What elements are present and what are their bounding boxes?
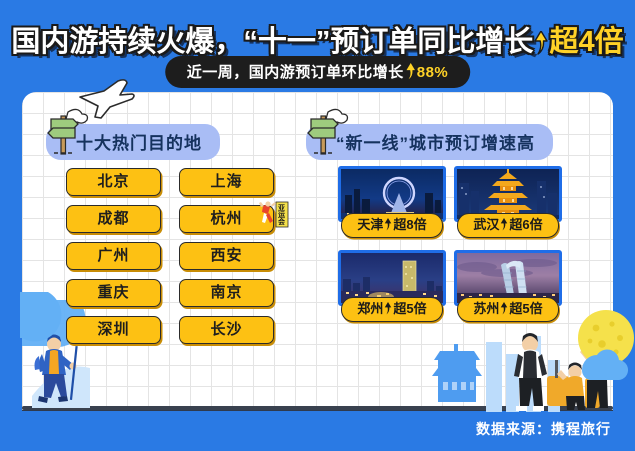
city-button[interactable]: 成都: [66, 205, 161, 233]
subtitle-text: 近一周，国内游预订单环比增长: [187, 64, 404, 81]
city-card-label: 苏州超5倍: [457, 297, 559, 322]
city-card[interactable]: 郑州超5倍: [338, 250, 446, 322]
city-label: 杭州: [210, 210, 242, 227]
svg-text:会: 会: [278, 217, 286, 226]
city-card-city: 苏州: [473, 301, 499, 316]
city-label: 成都: [97, 210, 129, 227]
city-label: 重庆: [97, 284, 129, 301]
city-card[interactable]: 武汉超6倍: [454, 166, 562, 238]
arrow-up-icon: [405, 63, 416, 80]
city-button[interactable]: 上海: [179, 168, 274, 196]
city-label: 北京: [97, 173, 129, 190]
city-label: 上海: [210, 173, 242, 190]
arrow-up-icon: [500, 216, 508, 229]
city-list: 北京 上海 成都 杭州 亚 运 会: [66, 168, 274, 344]
city-label: 深圳: [97, 321, 129, 338]
city-card-city: 郑州: [357, 301, 383, 316]
page-title: 国内游持续火爆，“十一”预订单同比增长超4倍: [0, 18, 635, 60]
right-panel-heading: “新一线”城市预订增速高: [306, 124, 553, 160]
city-label: 南京: [210, 284, 242, 301]
arrow-up-icon: [500, 300, 508, 313]
city-card-label: 郑州超5倍: [341, 297, 443, 322]
city-card-city: 天津: [357, 217, 383, 232]
title-text: 国内游持续火爆，“十一”预订单同比增长: [11, 26, 533, 58]
subtitle-pill: 近一周，国内游预订单环比增长88%: [165, 56, 471, 88]
data-source-label: 数据来源：携程旅行: [476, 419, 611, 439]
city-label: 长沙: [210, 321, 242, 338]
arrow-up-icon: [384, 300, 392, 313]
city-card-growth: 超8倍: [393, 217, 426, 232]
city-card-city: 武汉: [473, 217, 499, 232]
city-card-label: 天津超8倍: [341, 213, 443, 238]
arrow-up-icon: [384, 216, 392, 229]
city-card-growth: 超5倍: [509, 301, 542, 316]
left-panel-heading: 十大热门目的地: [46, 124, 220, 160]
title-highlight: 超4倍: [549, 26, 623, 58]
city-button[interactable]: 重庆: [66, 279, 161, 307]
city-card-growth: 超5倍: [393, 301, 426, 316]
city-button[interactable]: 杭州 亚 运 会: [179, 205, 274, 233]
city-card-growth: 超6倍: [509, 217, 542, 232]
subtitle-highlight: 88%: [417, 64, 449, 81]
city-button[interactable]: 南京: [179, 279, 274, 307]
city-card[interactable]: 天津超8倍: [338, 166, 446, 238]
city-button[interactable]: 深圳: [66, 316, 161, 344]
city-card-list: 天津超8倍: [338, 166, 562, 322]
infographic-poster: 国内游持续火爆，“十一”预订单同比增长超4倍 近一周，国内游预订单环比增长88%…: [0, 0, 635, 451]
arrow-up-icon: [534, 30, 548, 54]
city-button[interactable]: 西安: [179, 242, 274, 270]
asian-games-badge-icon: 亚 运 会: [259, 200, 289, 230]
city-button[interactable]: 广州: [66, 242, 161, 270]
city-button[interactable]: 北京: [66, 168, 161, 196]
city-card-label: 武汉超6倍: [457, 213, 559, 238]
sheet-shadow: [22, 406, 613, 410]
city-label: 西安: [210, 247, 242, 264]
city-card[interactable]: 苏州超5倍: [454, 250, 562, 322]
city-label: 广州: [97, 247, 129, 264]
signpost-icon: [302, 104, 352, 158]
city-button[interactable]: 长沙: [179, 316, 274, 344]
signpost-icon: [42, 104, 92, 158]
